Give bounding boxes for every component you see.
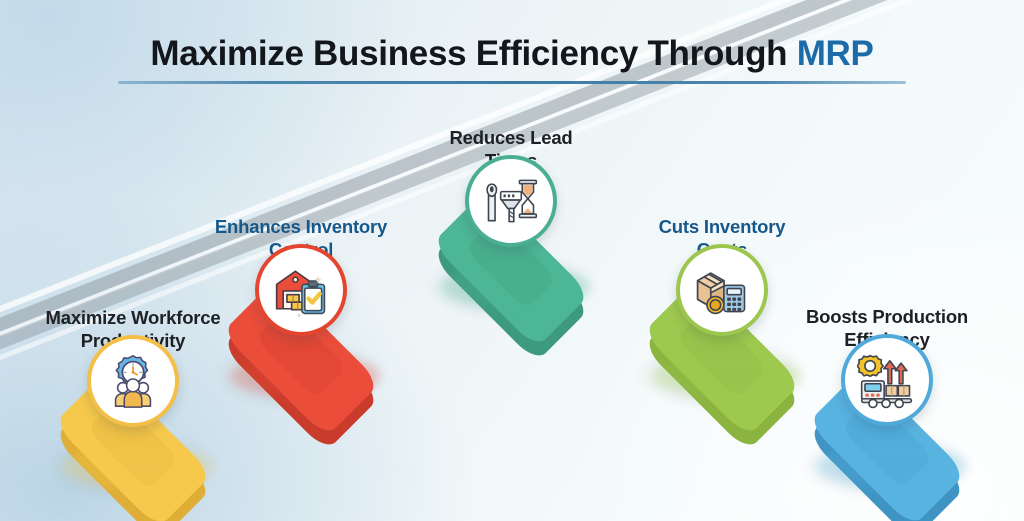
page-title-main: Maximize Business Efficiency Through xyxy=(150,34,796,73)
title-underline xyxy=(118,81,906,84)
box-calculator-coin-icon[interactable] xyxy=(676,244,768,336)
podium-reflection xyxy=(230,354,380,398)
page-title-accent: MRP xyxy=(797,34,874,73)
warehouse-clipboard-icon[interactable] xyxy=(255,244,347,336)
gear-clock-people-icon[interactable] xyxy=(87,335,179,427)
node-podium xyxy=(196,262,406,412)
factory-conveyor-gear-icon[interactable] xyxy=(841,334,933,426)
podium-reflection xyxy=(440,265,590,309)
infographic-canvas: Maximize Business Efficiency Through MRP… xyxy=(0,0,1024,521)
podium-reflection xyxy=(816,444,966,488)
drill-hourglass-icon[interactable] xyxy=(465,155,557,247)
podium-reflection xyxy=(62,445,212,489)
node-podium xyxy=(782,352,992,502)
node-podium xyxy=(406,173,616,323)
node-boosts-production-efficiency[interactable]: Boosts Production Efficiency xyxy=(757,305,1017,502)
page-title: Maximize Business Efficiency Through MRP xyxy=(0,34,1024,74)
